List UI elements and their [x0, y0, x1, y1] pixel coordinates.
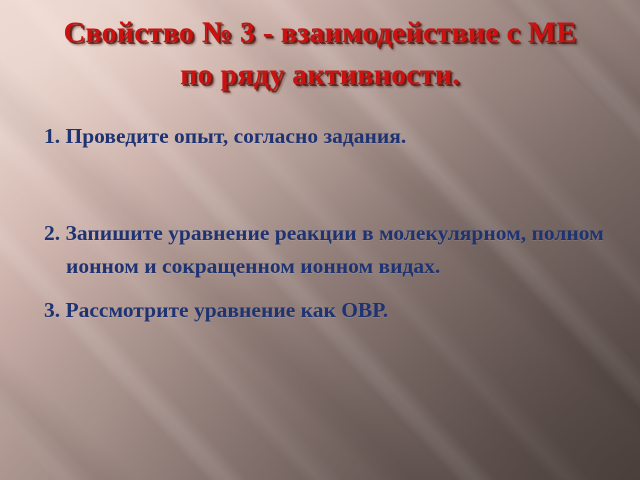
list-item: 3. Рассмотрите уравнение как ОВР.	[44, 294, 612, 327]
slide-content: Свойство № 3 - взаимодействие с МЕ по ря…	[0, 0, 640, 480]
presentation-slide: Свойство № 3 - взаимодействие с МЕ по ря…	[0, 0, 640, 480]
list-item: 1. Проведите опыт, согласно задания.	[44, 120, 612, 153]
list-item: 2. Запишите уравнение реакции в молекуля…	[44, 217, 612, 283]
slide-title: Свойство № 3 - взаимодействие с МЕ по ря…	[20, 12, 620, 96]
slide-body-list: 1. Проведите опыт, согласно задания. 2. …	[44, 120, 612, 327]
